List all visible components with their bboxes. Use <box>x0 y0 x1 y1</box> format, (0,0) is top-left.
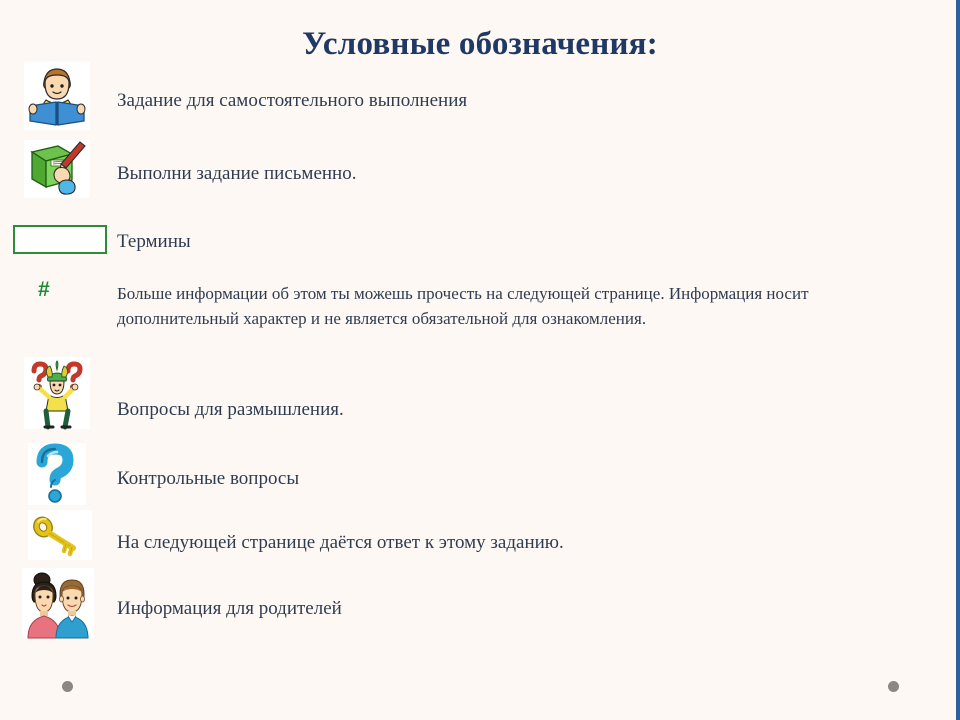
legend-label-control-questions: Контрольные вопросы <box>117 466 299 491</box>
legend-label-self-study: Задание для самостоятельного выполнения <box>117 88 467 113</box>
footer-dot-left <box>62 681 73 692</box>
jester-question-marks-icon <box>24 357 90 429</box>
legend-label-terms: Термины <box>117 229 191 254</box>
gold-key-icon <box>28 510 92 560</box>
legend-label-parents-info: Информация для родителей <box>117 596 342 621</box>
green-rectangle-icon <box>13 225 107 254</box>
boy-reading-book-icon <box>24 62 90 130</box>
legend-label-thinking-questions: Вопросы для размышления. <box>117 397 344 422</box>
slide-canvas: Условные обозначения: <box>0 0 960 720</box>
parents-couple-icon <box>22 568 94 638</box>
notebook-pencil-icon <box>24 140 90 198</box>
hash-icon: # <box>38 279 50 300</box>
legend-label-extra-info: Больше информации об этом ты можешь проч… <box>117 281 897 331</box>
legend-label-written-task: Выполни задание письменно. <box>117 161 356 186</box>
right-edge-accent-bar <box>956 0 960 720</box>
blue-question-mark-icon <box>28 443 86 505</box>
footer-dot-right <box>888 681 899 692</box>
legend-label-answer-next-page: На следующей странице даётся ответ к это… <box>117 530 564 555</box>
page-title: Условные обозначения: <box>0 26 960 63</box>
